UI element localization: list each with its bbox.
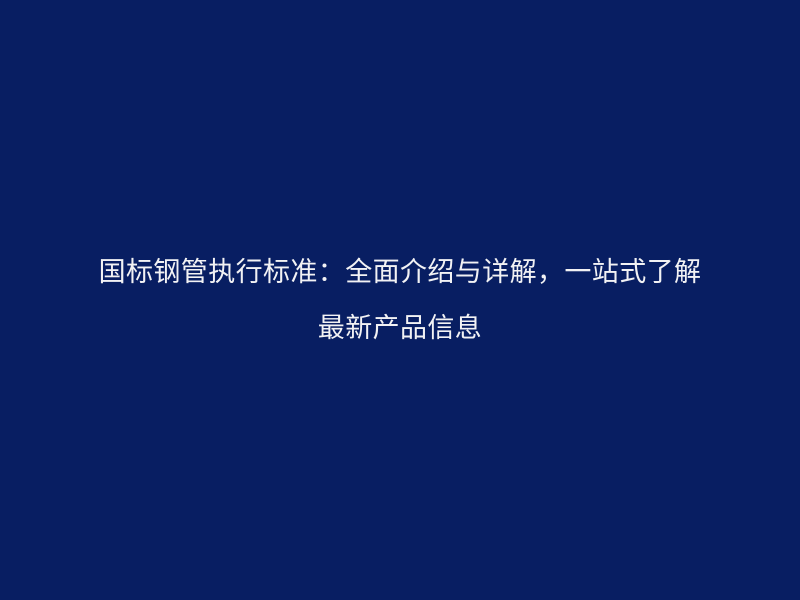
title-card: 国标钢管执行标准：全面介绍与详解，一站式了解 最新产品信息	[0, 0, 800, 600]
page-title-line-2: 最新产品信息	[50, 300, 750, 356]
page-title-line-1: 国标钢管执行标准：全面介绍与详解，一站式了解	[50, 244, 750, 300]
page-title: 国标钢管执行标准：全面介绍与详解，一站式了解 最新产品信息	[50, 244, 750, 356]
headline-block: 国标钢管执行标准：全面介绍与详解，一站式了解 最新产品信息	[50, 244, 750, 356]
